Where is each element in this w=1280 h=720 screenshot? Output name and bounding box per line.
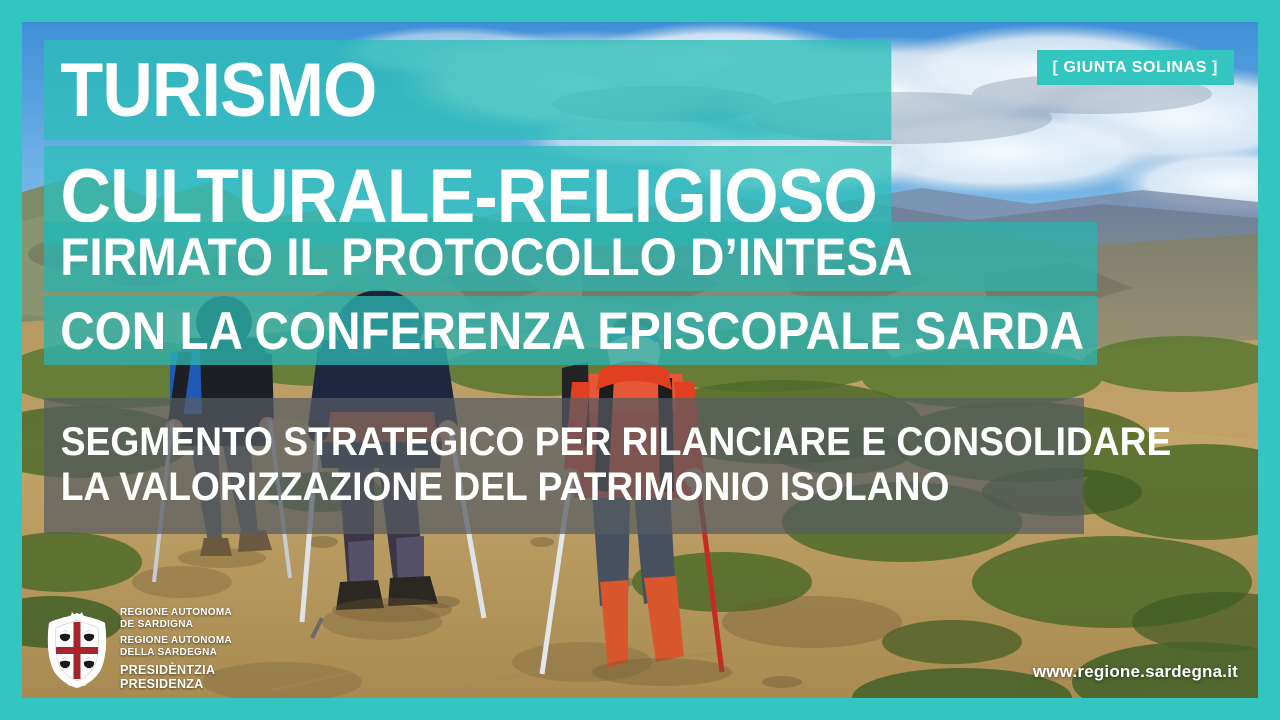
strapline: SEGMENTO STRATEGICO PER RILANCIARE E CON… — [44, 398, 1084, 534]
strapline-line-2: LA VALORIZZAZIONE DEL PATRIMONIO ISOLANO — [44, 465, 1011, 510]
logo-line-1: REGIONE AUTONOMA — [120, 607, 232, 619]
sardinia-four-moors-crest-icon — [44, 611, 110, 689]
page-title: TURISMO CULTURALE-RELIGIOSO — [44, 40, 965, 246]
logo-text-block: REGIONE AUTONOMA DE SARDIGNA REGIONE AUT… — [120, 607, 232, 692]
poster-content: [ GIUNTA SOLINAS ] TURISMO CULTURALE-REL… — [0, 0, 1280, 720]
logo-line-2: DE SARDIGNA — [120, 619, 232, 631]
logo-line-5: PRESIDÈNTZIA — [120, 663, 232, 678]
logo-line-3: REGIONE AUTONOMA — [120, 635, 232, 647]
subtitle-line-2: CON LA CONFERENZA EPISCOPALE SARDA — [44, 296, 1097, 365]
subtitle: FIRMATO IL PROTOCOLLO D’INTESA CON LA CO… — [44, 222, 1214, 370]
title-line-1: TURISMO — [44, 40, 892, 140]
website-url[interactable]: www.regione.sardegna.it — [1033, 662, 1238, 682]
strapline-line-1: SEGMENTO STRATEGICO PER RILANCIARE E CON… — [44, 420, 1011, 465]
giunta-badge: [ GIUNTA SOLINAS ] — [1037, 50, 1234, 85]
logo-line-4: DELLA SARDEGNA — [120, 647, 232, 659]
logo-line-6: PRESIDENZA — [120, 677, 232, 692]
poster: [ GIUNTA SOLINAS ] TURISMO CULTURALE-REL… — [0, 0, 1280, 720]
subtitle-line-1: FIRMATO IL PROTOCOLLO D’INTESA — [44, 222, 1097, 291]
region-logo: REGIONE AUTONOMA DE SARDIGNA REGIONE AUT… — [44, 607, 232, 692]
